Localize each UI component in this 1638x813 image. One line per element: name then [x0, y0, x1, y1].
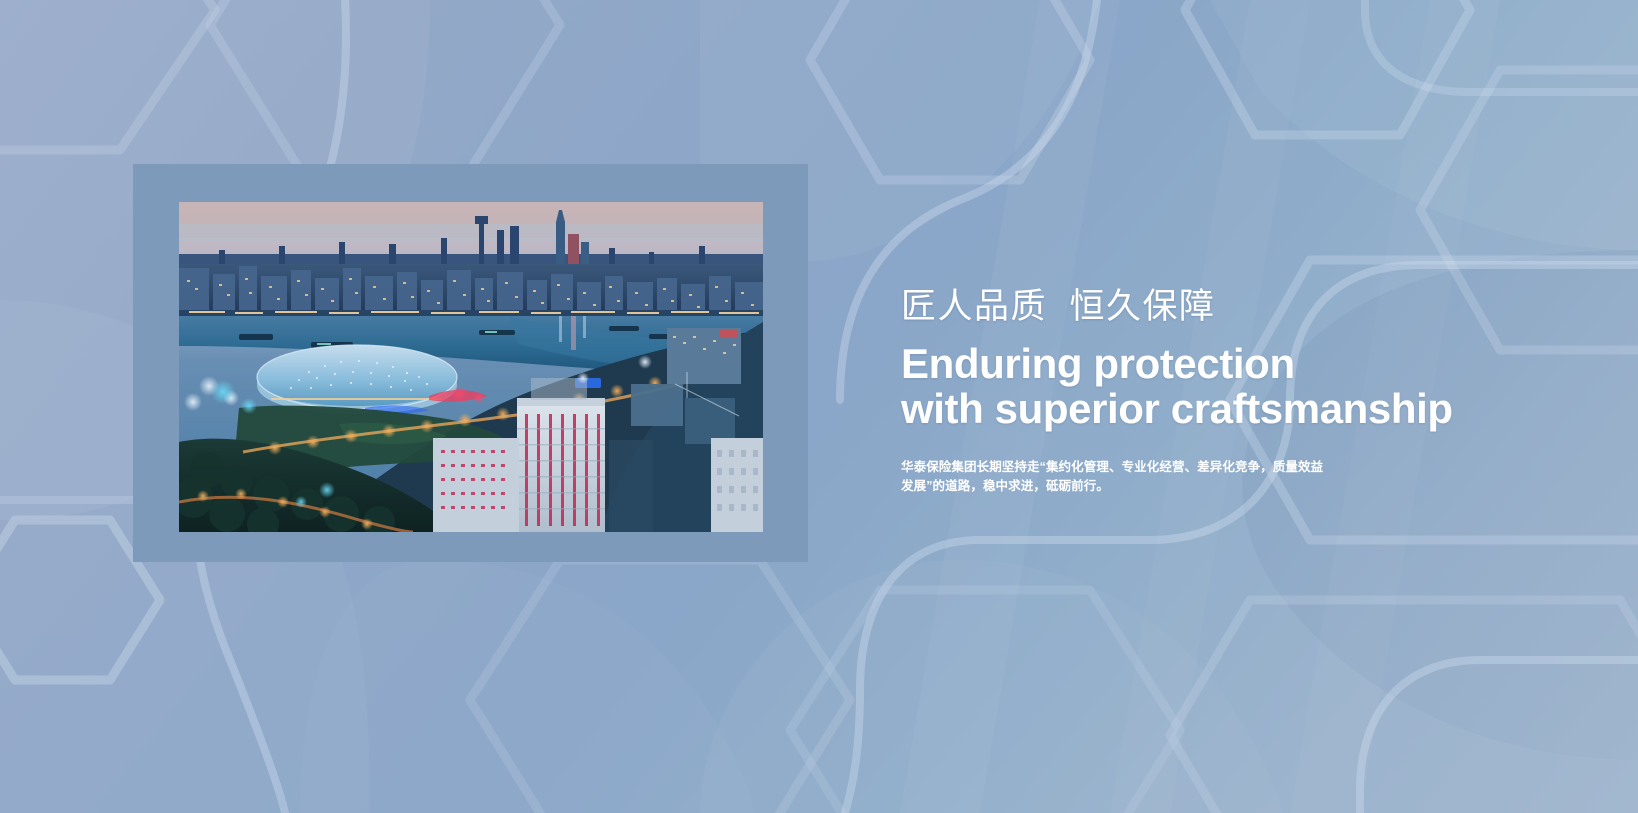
city-skyline-photo — [179, 202, 763, 532]
headline-english-line-1: Enduring protection — [901, 341, 1461, 387]
headline-chinese: 匠人品质 恒久保障 — [901, 286, 1461, 329]
headline-english-line-2: with superior craftsmanship — [901, 386, 1461, 432]
body-line-2: 发展”的道路，稳中求进，砥砺前行。 — [901, 477, 1381, 496]
headline-english: Enduring protection with superior crafts… — [901, 341, 1461, 433]
body-line-1: 华泰保险集团长期坚持走“集约化管理、专业化经营、差异化竞争，质量效益 — [901, 458, 1381, 477]
hero-banner: 匠人品质 恒久保障 Enduring protection with super… — [0, 0, 1638, 813]
photo-frame — [133, 164, 808, 562]
hero-text-block: 匠人品质 恒久保障 Enduring protection with super… — [901, 286, 1461, 496]
body-paragraph: 华泰保险集团长期坚持走“集约化管理、专业化经营、差异化竞争，质量效益 发展”的道… — [901, 458, 1381, 496]
